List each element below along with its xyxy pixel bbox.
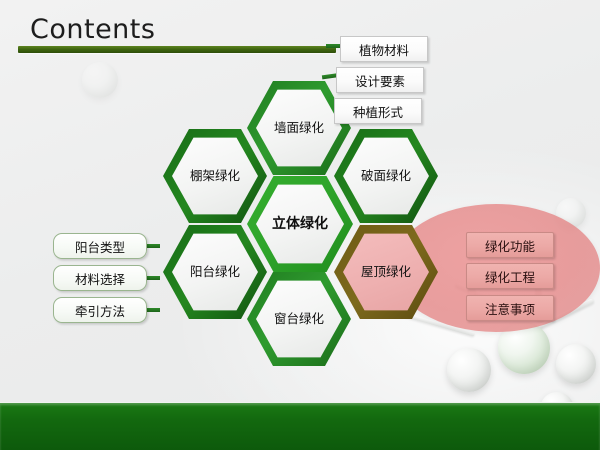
molecule-sphere [447,348,491,392]
molecule-sphere [82,62,118,98]
title-underline [18,46,336,53]
connector-line [146,244,160,248]
callout-design-elements[interactable]: 设计要素 [336,67,424,93]
callout-label: 绿化工程 [485,267,535,286]
slide-canvas: Contents 墙面绿化 棚架绿化 破面绿化 立体绿化 阳台绿化 [0,0,600,450]
hexagon-wall[interactable]: 墙面绿化 [247,79,351,177]
hexagon-label: 窗台绿化 [267,311,331,327]
callout-greening-function[interactable]: 绿化功能 [466,232,554,258]
molecule-sphere [556,344,596,384]
callout-traction-method[interactable]: 牵引方法 [53,297,147,323]
page-title: Contents [30,14,155,45]
hexagon-label: 墙面绿化 [267,120,331,136]
hexagon-face: 窗台绿化 [256,279,342,359]
hexagon-label: 屋顶绿化 [354,264,418,280]
hexagon-center[interactable]: 立体绿化 [247,174,353,274]
callout-balcony-type[interactable]: 阳台类型 [53,233,147,259]
callout-label: 注意事项 [485,299,535,318]
callout-label: 材料选择 [75,269,125,288]
hexagon-face: 屋顶绿化 [343,232,429,312]
hexagon-face: 破面绿化 [343,136,429,216]
connector-line [146,276,160,280]
hexagon-label: 破面绿化 [354,168,418,184]
footer-bar [0,403,600,450]
hexagon-trellis[interactable]: 棚架绿化 [163,127,267,225]
callout-label: 设计要素 [355,71,405,90]
hexagon-label: 阳台绿化 [183,264,247,280]
callout-material-selection[interactable]: 材料选择 [53,265,147,291]
hexagon-label: 立体绿化 [262,216,338,233]
callout-label: 牵引方法 [75,301,125,320]
callout-greening-engineering[interactable]: 绿化工程 [466,263,554,289]
hexagon-balcony[interactable]: 阳台绿化 [163,223,267,321]
callout-label: 种植形式 [353,102,403,121]
callout-label: 植物材料 [359,40,409,59]
hexagon-slope[interactable]: 破面绿化 [334,127,438,225]
hexagon-face: 立体绿化 [256,183,344,265]
callout-label: 绿化功能 [485,236,535,255]
hexagon-face: 阳台绿化 [172,232,258,312]
callout-precautions[interactable]: 注意事项 [466,295,554,321]
callout-plant-material[interactable]: 植物材料 [340,36,428,62]
hexagon-face: 棚架绿化 [172,136,258,216]
hexagon-face: 墙面绿化 [256,88,342,168]
connector-line [146,308,160,312]
hexagon-sill[interactable]: 窗台绿化 [247,270,351,368]
callout-label: 阳台类型 [75,237,125,256]
hexagon-label: 棚架绿化 [183,168,247,184]
callout-planting-forms[interactable]: 种植形式 [334,98,422,124]
